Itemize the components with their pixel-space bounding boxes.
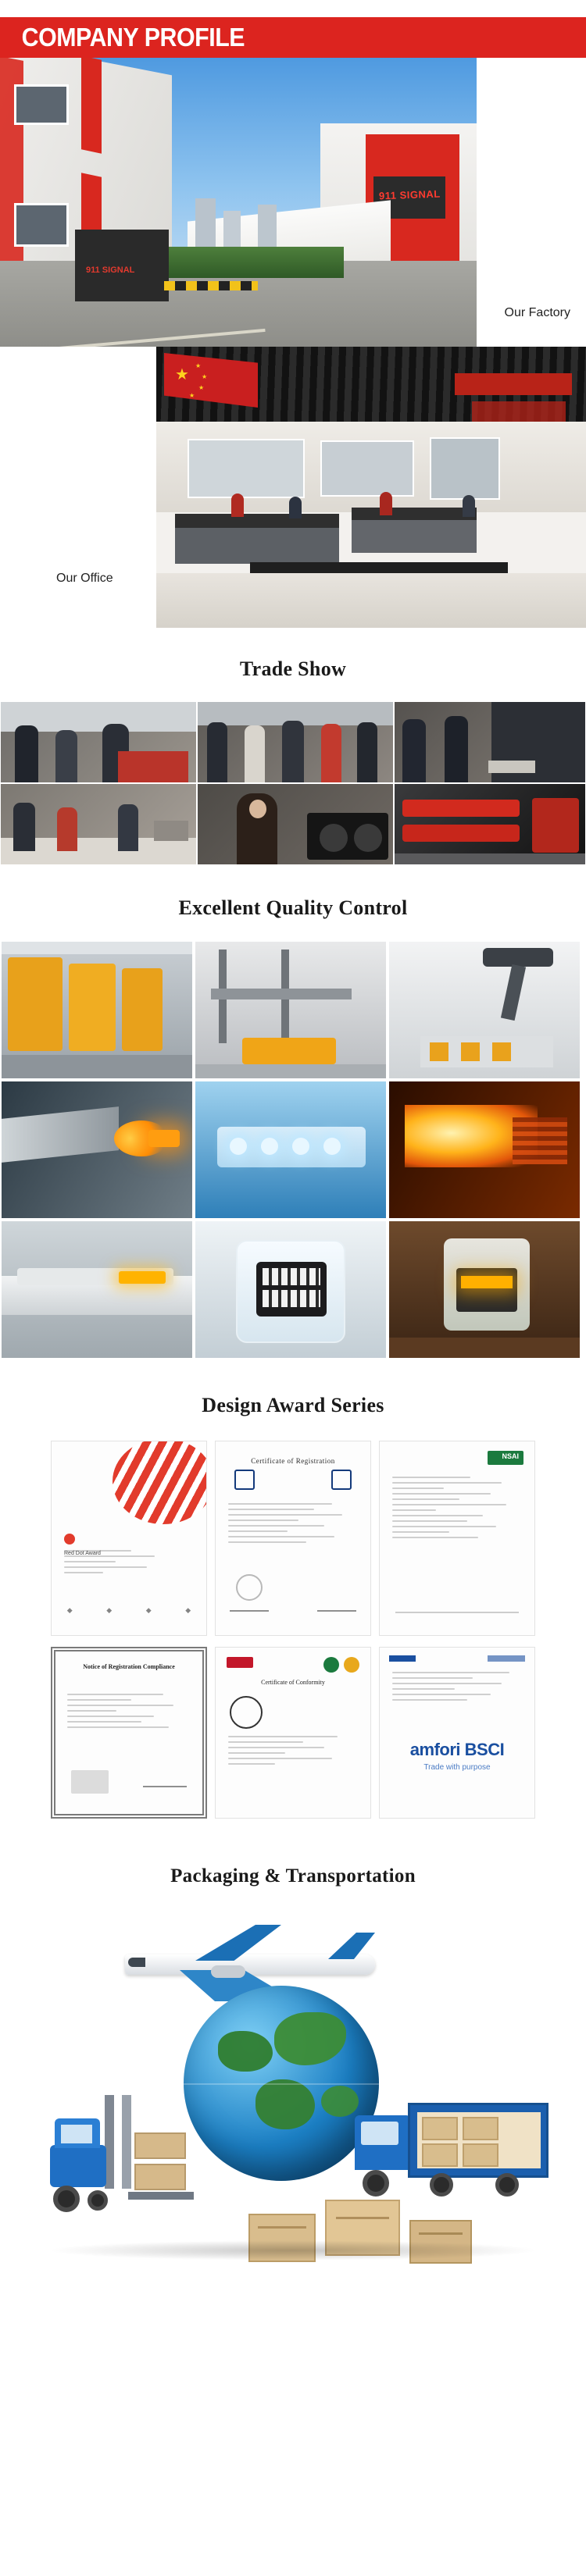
certificate-row-bottom: Notice of Registration Compliance Certif… xyxy=(0,1647,586,1819)
booth-meeting-table-photo xyxy=(0,783,197,865)
design-award-section: Design Award Series ◆◆ ◆◆ Red Dot Award … xyxy=(0,1394,586,1819)
heat-resistance-test-photo xyxy=(389,1221,580,1358)
robot-arm-photo xyxy=(389,942,580,1078)
packaging-section: Packaging & Transportation xyxy=(0,1865,586,2278)
company-profile-banner: COMPANY PROFILE xyxy=(0,17,586,58)
factory-photo: 911 SIGNAL 911 SIGNAL xyxy=(0,58,477,347)
ground-shadow xyxy=(47,2240,539,2261)
red-dot-label: Red Dot Award xyxy=(64,1551,101,1556)
packaging-title: Packaging & Transportation xyxy=(0,1865,586,1887)
booth-product-demo-photo xyxy=(394,701,586,783)
amfori-bsci-certificate: amfori BSCI Trade with purpose xyxy=(379,1647,535,1819)
booth-handshake-photo xyxy=(0,701,197,783)
design-award-title: Design Award Series xyxy=(0,1394,586,1417)
packaging-illustration xyxy=(0,1911,586,2278)
amber-flash-test-photo xyxy=(389,1081,580,1218)
assembly-line-photo xyxy=(2,942,192,1078)
company-profile-page: COMPANY PROFILE 911 SIGNAL xyxy=(0,17,586,2278)
notice-of-registration-certificate: Notice of Registration Compliance xyxy=(51,1647,207,1819)
booth-light-bar-display-photo xyxy=(394,783,586,865)
booth-group-discussion-photo xyxy=(197,701,394,783)
amfori-tagline: Trade with purpose xyxy=(380,1763,534,1772)
ce-registration-certificate: Certificate of Registration xyxy=(215,1441,371,1636)
amfori-bsci-logo-text: amfori BSCI xyxy=(410,1740,504,1759)
page-title: COMPANY PROFILE xyxy=(0,23,245,52)
forklift-graphic xyxy=(47,2095,211,2220)
quality-control-gallery xyxy=(0,940,586,1359)
trade-show-section: Trade Show xyxy=(0,657,586,865)
ce-conformity-certificate: Certificate of Conformity xyxy=(215,1647,371,1819)
red-dot-award-certificate: ◆◆ ◆◆ Red Dot Award xyxy=(51,1441,207,1636)
factory-section: 911 SIGNAL 911 SIGNAL Our Factory xyxy=(0,58,586,347)
certificate-row-top: ◆◆ ◆◆ Red Dot Award Certificate of Regis… xyxy=(0,1441,586,1636)
quality-control-section: Excellent Quality Control xyxy=(0,896,586,1359)
nsai-certificate: NSAI xyxy=(379,1441,535,1636)
factory-caption: Our Factory xyxy=(505,306,570,337)
trade-show-title: Trade Show xyxy=(0,657,586,681)
trade-show-gallery xyxy=(0,701,586,865)
quality-control-title: Excellent Quality Control xyxy=(0,896,586,920)
office-photo: ★ ★ ★ ★ ★ xyxy=(156,347,586,628)
office-section: ★ ★ ★ ★ ★ xyxy=(0,347,586,643)
waterproof-test-photo xyxy=(195,1081,386,1218)
robotic-dispensing-photo xyxy=(195,942,386,1078)
water-immersion-tank-photo xyxy=(195,1221,386,1358)
office-caption: Our Office xyxy=(56,572,113,586)
globe-graphic xyxy=(184,1986,379,2181)
beam-test-photo xyxy=(2,1081,192,1218)
booth-staff-portrait-photo xyxy=(197,783,394,865)
light-bar-bench-test-photo xyxy=(2,1221,192,1358)
